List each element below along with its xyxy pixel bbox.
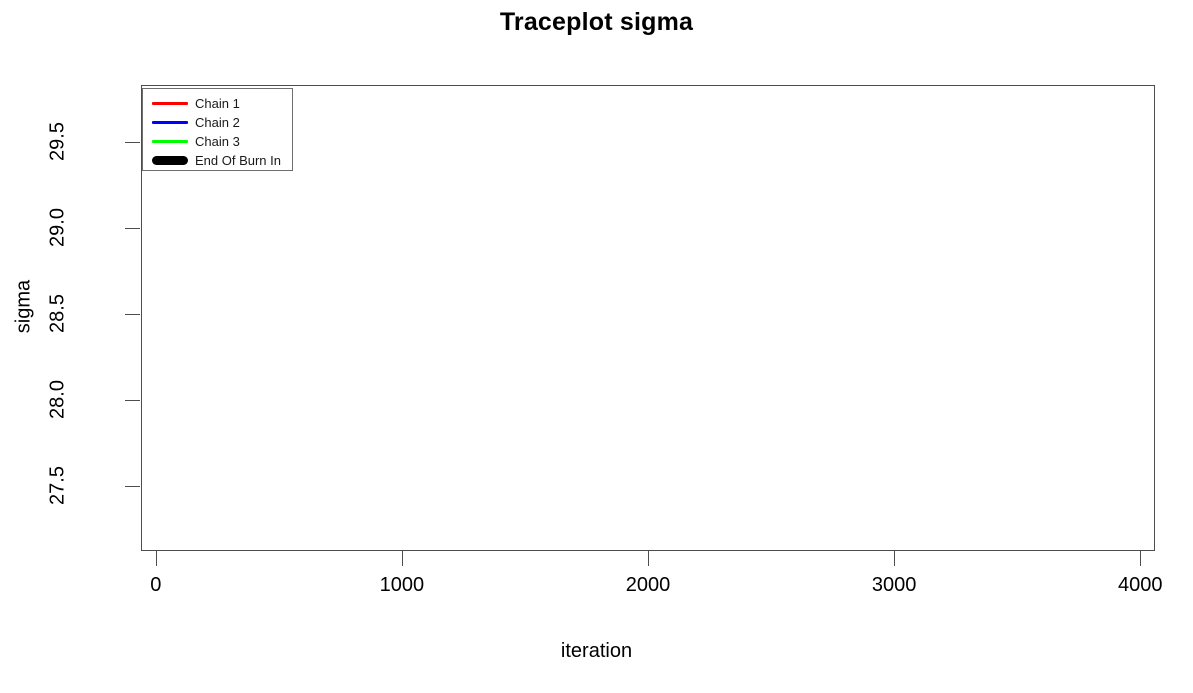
legend-item-label: End Of Burn In <box>195 153 281 168</box>
legend-line-swatch <box>152 102 188 105</box>
y-tick-mark <box>125 400 140 401</box>
x-axis-label: iteration <box>0 640 1193 663</box>
legend-item: End Of Burn In <box>143 151 294 170</box>
legend-item-label: Chain 1 <box>195 96 240 111</box>
legend-line-swatch <box>152 121 188 124</box>
legend-line-swatch <box>152 140 188 143</box>
chart-title: Traceplot sigma <box>0 8 1193 37</box>
legend-item: Chain 2 <box>143 113 294 132</box>
chart-legend: Chain 1Chain 2Chain 3End Of Burn In <box>142 88 293 171</box>
x-tick-mark <box>402 551 403 566</box>
x-tick-label: 4000 <box>1070 574 1193 597</box>
traceplot-figure: Traceplot sigma sigma iteration 27.528.0… <box>0 0 1193 693</box>
y-axis-label: sigma <box>13 257 36 357</box>
legend-item-label: Chain 2 <box>195 115 240 130</box>
x-tick-mark <box>1140 551 1141 566</box>
x-tick-mark <box>894 551 895 566</box>
x-tick-mark <box>156 551 157 566</box>
y-tick-mark <box>125 486 140 487</box>
y-tick-label: 29.5 <box>47 81 70 201</box>
y-tick-mark <box>125 228 140 229</box>
x-tick-mark <box>648 551 649 566</box>
y-tick-mark <box>125 314 140 315</box>
x-tick-label: 1000 <box>332 574 472 597</box>
x-tick-label: 2000 <box>578 574 718 597</box>
x-tick-label: 3000 <box>824 574 964 597</box>
legend-burnin-swatch <box>152 156 188 165</box>
y-tick-mark <box>125 142 140 143</box>
x-tick-label: 0 <box>86 574 226 597</box>
legend-item: Chain 1 <box>143 94 294 113</box>
legend-item: Chain 3 <box>143 132 294 151</box>
legend-item-label: Chain 3 <box>195 134 240 149</box>
